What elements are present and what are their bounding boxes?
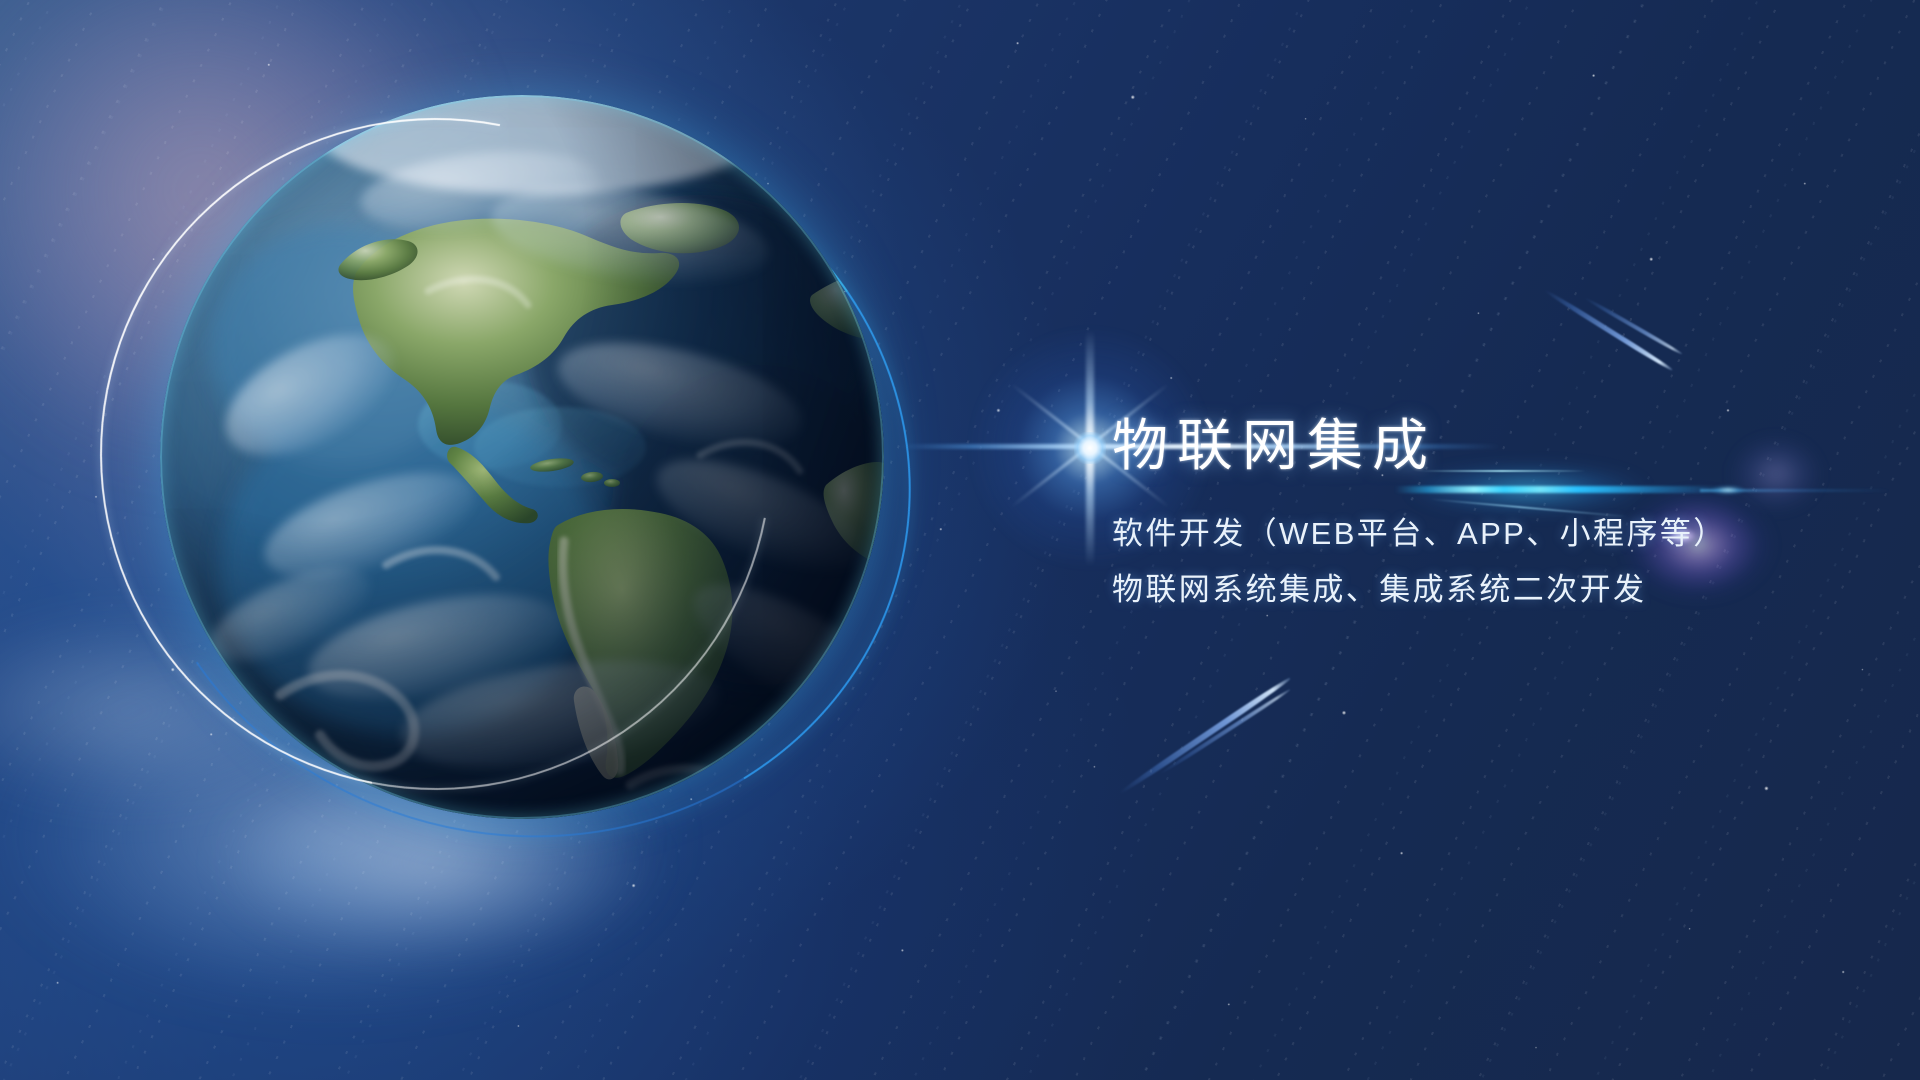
- star-flare-core: [1074, 432, 1106, 464]
- globe-rim-light: [160, 95, 884, 819]
- subtitle-line-1: 软件开发（WEB平台、APP、小程序等）: [1112, 517, 1872, 551]
- subtitle-line-2: 物联网系统集成、集成系统二次开发: [1112, 573, 1872, 607]
- star-flare-vertical-spike: [1086, 330, 1094, 566]
- meteor-streak: [1159, 688, 1291, 776]
- page-title: 物联网集成: [1112, 416, 1872, 475]
- globe-sphere: [160, 95, 884, 819]
- iot-integration-banner: 物联网集成 软件开发（WEB平台、APP、小程序等） 物联网系统集成、集成系统二…: [0, 0, 1920, 1080]
- meteor-streak: [1544, 288, 1674, 372]
- earth-globe: [160, 95, 884, 819]
- meteor-streak: [1584, 296, 1683, 355]
- meteor-streak: [1118, 676, 1291, 796]
- banner-copy: 物联网集成 软件开发（WEB平台、APP、小程序等） 物联网系统集成、集成系统二…: [1112, 416, 1872, 608]
